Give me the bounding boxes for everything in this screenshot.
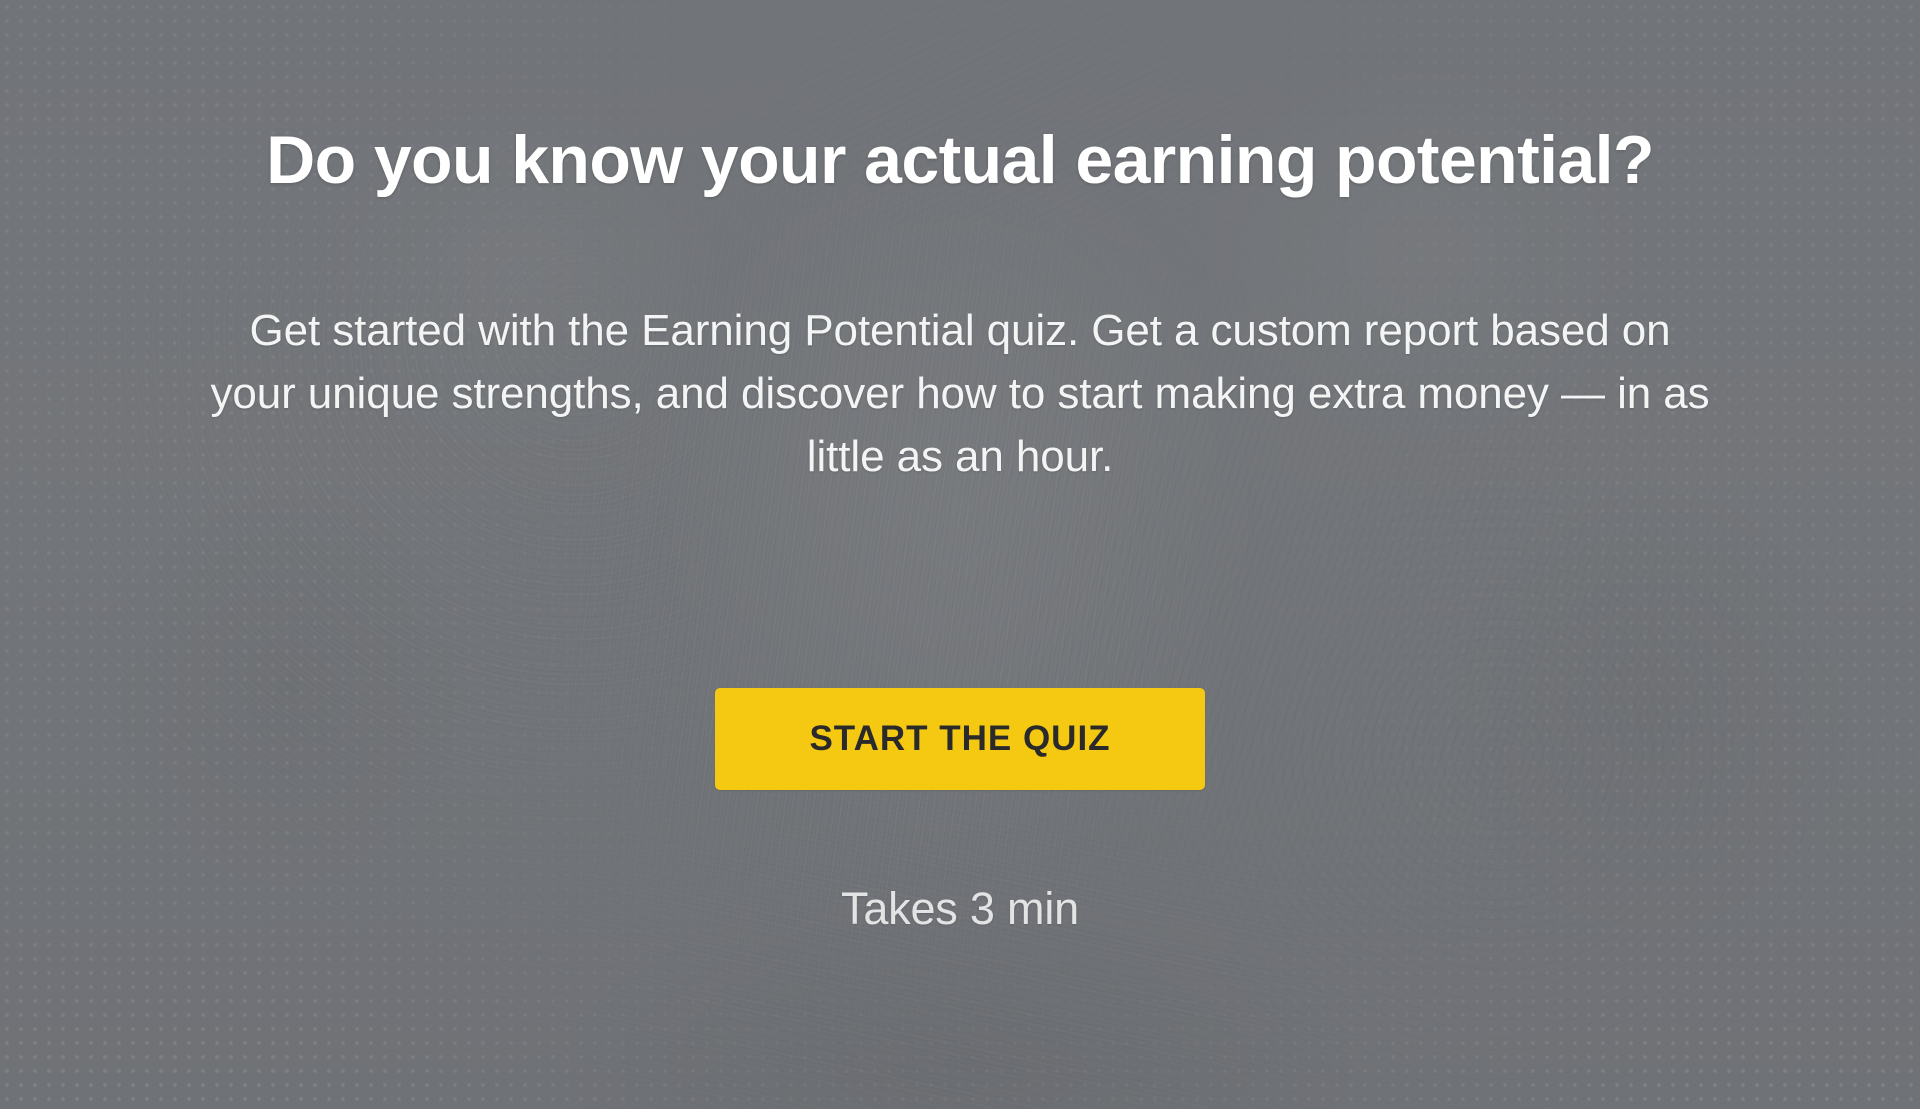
hero-content: Do you know your actual earning potentia… <box>0 0 1920 1109</box>
page-title: Do you know your actual earning potentia… <box>150 122 1770 198</box>
hero-section: Do you know your actual earning potentia… <box>0 0 1920 1109</box>
start-quiz-button[interactable]: START THE QUIZ <box>715 688 1205 790</box>
cta-container: START THE QUIZ <box>0 688 1920 790</box>
quiz-duration-note: Takes 3 min <box>0 880 1920 939</box>
hero-description: Get started with the Earning Potential q… <box>210 300 1710 489</box>
